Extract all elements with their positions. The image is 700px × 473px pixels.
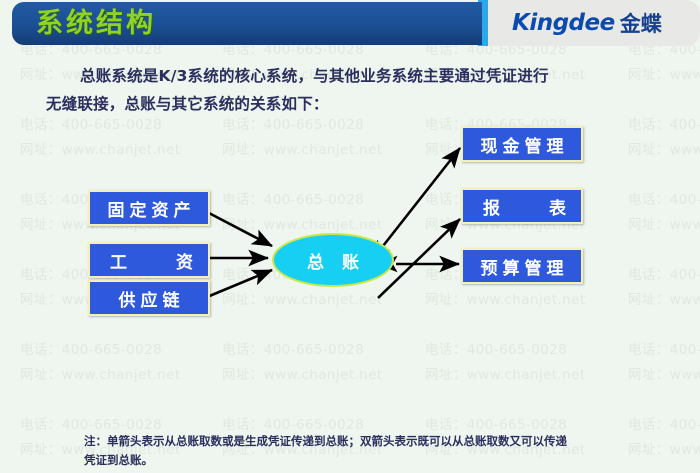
kingdee-logo: Kingdee 金蝶 bbox=[512, 9, 662, 37]
slide-canvas: 电话：400-665-0028网址：www.chanjet.net电话：400-… bbox=[0, 0, 700, 473]
logo-chinese-name: 金蝶 bbox=[620, 8, 662, 38]
arrow-supply-chain-to-gl bbox=[207, 270, 272, 297]
watermark-phone: 电话：400-665-0028 bbox=[425, 338, 567, 358]
watermark-website: 网址：www.chanjet.net bbox=[222, 363, 382, 383]
node-fixed-assets-label: 固定资产 bbox=[103, 196, 196, 221]
watermark-phone: 电话：400-665-0028 bbox=[20, 413, 162, 433]
node-cash-management-label: 现金管理 bbox=[476, 132, 569, 157]
node-payroll-label-a: 工 bbox=[105, 248, 127, 273]
footnote-line-2: 凭证到总账。 bbox=[84, 451, 684, 470]
node-cash-management[interactable]: 现金管理 bbox=[461, 126, 583, 162]
system-structure-diagram: 固定资产 工 资 供应链 现金管理 报 表 预算管理 总 账 bbox=[0, 100, 700, 340]
watermark-phone: 电话：400-665-0028 bbox=[628, 413, 700, 433]
node-budget-management[interactable]: 预算管理 bbox=[461, 248, 583, 284]
watermark-phone: 电话：400-665-0028 bbox=[425, 413, 567, 433]
footnote-line-1: 注：单箭头表示从总账取数或是生成凭证传递到总账；双箭头表示既可以从总账取数又可以… bbox=[84, 432, 684, 451]
node-general-ledger[interactable]: 总 账 bbox=[272, 233, 394, 287]
watermark-phone: 电话：400-665-0028 bbox=[222, 413, 364, 433]
node-reports-label-a: 报 bbox=[478, 194, 500, 219]
watermark-phone: 电话：400-665-0028 bbox=[628, 338, 700, 358]
watermark-website: 网址：www.chanjet.net bbox=[628, 363, 700, 383]
watermark-website: 网址：www.chanjet.net bbox=[20, 363, 180, 383]
node-reports-label-b: 表 bbox=[544, 194, 566, 219]
logo-wordmark: Kingdee bbox=[512, 10, 615, 36]
node-general-ledger-label: 总 账 bbox=[301, 248, 365, 273]
arrow-fixed-assets-to-gl bbox=[207, 212, 272, 246]
watermark-website: 网址：www.chanjet.net bbox=[425, 363, 585, 383]
node-payroll-label-b: 资 bbox=[171, 248, 193, 273]
intro-line-1: 总账系统是K/3系统的核心系统，与其他业务系统主要通过凭证进行 bbox=[80, 67, 549, 85]
node-budget-management-label: 预算管理 bbox=[476, 254, 569, 279]
footnote: 注：单箭头表示从总账取数或是生成凭证传递到总账；双箭头表示既可以从总账取数又可以… bbox=[84, 432, 684, 470]
watermark-phone: 电话：400-665-0028 bbox=[20, 338, 162, 358]
node-fixed-assets[interactable]: 固定资产 bbox=[88, 190, 210, 226]
node-reports[interactable]: 报 表 bbox=[461, 188, 583, 224]
slide-header: 系统结构 Kingdee 金蝶 bbox=[0, 0, 700, 46]
watermark-phone: 电话：400-665-0028 bbox=[222, 338, 364, 358]
page-title: 系统结构 bbox=[36, 5, 156, 43]
node-supply-chain-label: 供应链 bbox=[114, 286, 185, 311]
node-payroll[interactable]: 工 资 bbox=[88, 242, 210, 278]
node-supply-chain[interactable]: 供应链 bbox=[88, 280, 210, 316]
